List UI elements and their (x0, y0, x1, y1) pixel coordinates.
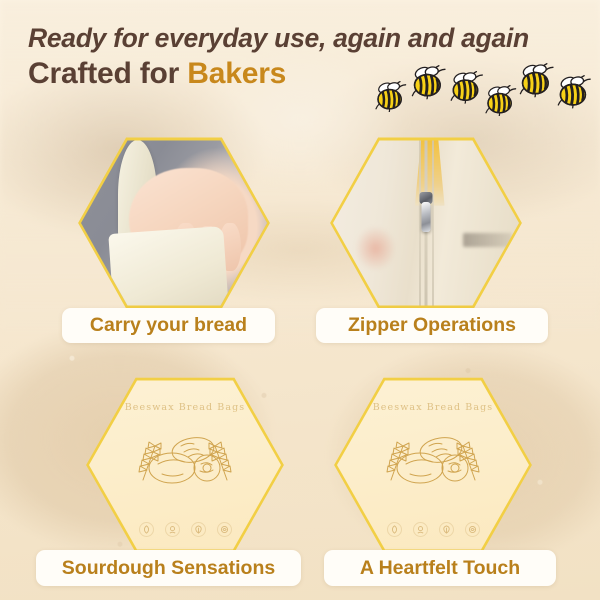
badge-icon-3 (191, 522, 206, 537)
zipper-tape-right (432, 137, 434, 309)
badge-icon-1 (139, 522, 154, 537)
label-text: Carry your bread (90, 314, 247, 337)
label-zipper-operations[interactable]: Zipper Operations (316, 308, 548, 343)
label-text: Sourdough Sensations (62, 557, 275, 580)
fabric-print-text (463, 233, 511, 247)
label-text: A Heartfelt Touch (360, 557, 520, 580)
headline-line-2-prefix: Crafted for (28, 57, 187, 90)
zipper-pull-tab (422, 202, 431, 232)
badge-icon-2 (165, 522, 180, 537)
badge-icon-4 (465, 522, 480, 537)
bee-icon (516, 62, 556, 102)
badge-icon-3 (439, 522, 454, 537)
bee-decoration-row (372, 58, 600, 126)
product-title: Beeswax Bread Bags (125, 402, 246, 413)
label-carry-your-bread[interactable]: Carry your bread (62, 308, 275, 343)
bee-icon (554, 74, 594, 113)
label-text: Zipper Operations (348, 314, 516, 337)
headline-line-1: Ready for everyday use, again and again (28, 24, 584, 54)
fabric-smudge (355, 226, 396, 271)
bread-bag-body (108, 226, 229, 309)
label-a-heartfelt-touch[interactable]: A Heartfelt Touch (324, 550, 556, 586)
bread-loaves-wheat-line-art (379, 424, 487, 491)
bee-icon (482, 84, 519, 120)
label-sourdough-sensations[interactable]: Sourdough Sensations (36, 550, 301, 586)
headline-line-2-accent: Bakers (187, 57, 286, 90)
bee-icon (447, 70, 486, 108)
bee-icon (372, 80, 409, 116)
badge-icon-2 (413, 522, 428, 537)
badge-icon-1 (387, 522, 402, 537)
badge-icon-4 (217, 522, 232, 537)
promo-banner: Ready for everyday use, again and again … (0, 0, 600, 600)
bee-icon (408, 64, 448, 104)
product-title: Beeswax Bread Bags (373, 402, 494, 413)
bread-loaves-wheat-line-art (131, 424, 239, 491)
